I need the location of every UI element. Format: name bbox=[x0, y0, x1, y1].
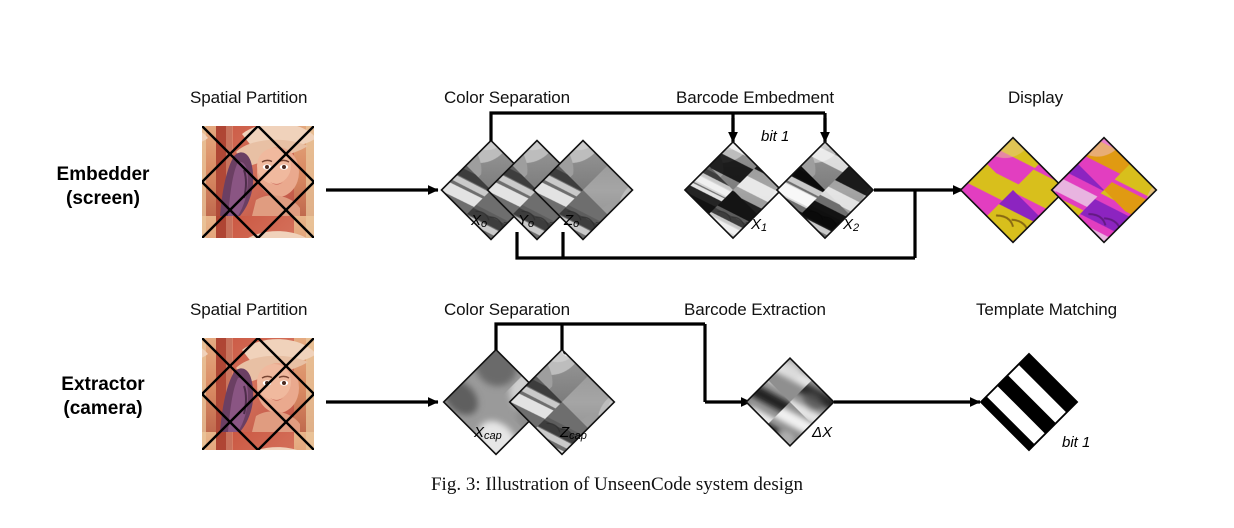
node-label-x-o-base: X bbox=[471, 212, 481, 229]
node-label-x-cap-base: X bbox=[474, 424, 484, 441]
node-label-y-o-base: Y bbox=[518, 212, 528, 229]
node-label-x-o: Xo bbox=[471, 212, 487, 230]
diagram-canvas bbox=[0, 0, 1234, 528]
node-label-y-o-sub: o bbox=[528, 218, 534, 230]
node-label-x-cap-sub: cap bbox=[484, 430, 502, 442]
node-label-delta-x-base: ΔX bbox=[812, 424, 832, 441]
node-label-x-1-sub: 1 bbox=[761, 222, 767, 234]
node-label-delta-x: ΔX bbox=[812, 424, 832, 442]
figure-caption: Fig. 3: Illustration of UnseenCode syste… bbox=[0, 474, 1234, 496]
figure-root: Embedder (screen) Extractor (camera) Spa… bbox=[0, 0, 1234, 528]
node-label-z-cap-base: Z bbox=[560, 424, 569, 441]
annotation-bit-embedder: bit 1 bbox=[761, 128, 789, 145]
node-label-z-cap-sub: cap bbox=[569, 430, 587, 442]
node-label-y-o: Yo bbox=[518, 212, 534, 230]
partition-grid-embedder bbox=[146, 14, 370, 350]
node-display-2 bbox=[1052, 138, 1157, 243]
node-label-x-o-sub: o bbox=[481, 218, 487, 230]
node-label-z-cap: Zcap bbox=[560, 424, 587, 442]
node-label-x-2-base: X bbox=[843, 216, 853, 233]
node-label-x-1: X1 bbox=[751, 216, 767, 234]
node-label-z-o-base: Z bbox=[564, 212, 573, 229]
node-label-z-o: Zo bbox=[564, 212, 579, 230]
source-image-embedder bbox=[146, 14, 370, 350]
node-label-z-o-sub: o bbox=[573, 218, 579, 230]
node-label-x-2: X2 bbox=[843, 216, 859, 234]
node-label-x-1-base: X bbox=[751, 216, 761, 233]
node-display-1 bbox=[961, 138, 1066, 243]
annotation-bit-extractor: bit 1 bbox=[1062, 434, 1090, 451]
node-label-x-cap: Xcap bbox=[474, 424, 502, 442]
node-label-x-2-sub: 2 bbox=[853, 222, 859, 234]
